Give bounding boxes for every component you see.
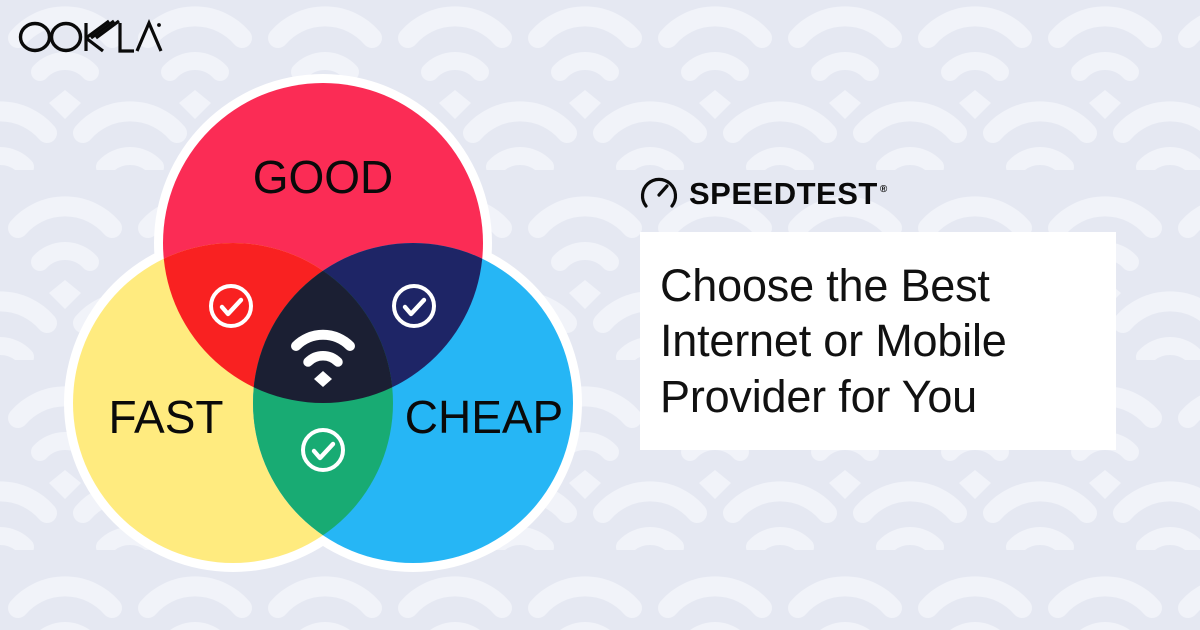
right-content-column: SPEEDTEST® Choose the Best Internet or M… (640, 170, 1120, 450)
good-fast-cheap-venn-diagram: GOOD FAST CHEAP (18, 58, 602, 578)
speedtest-logo-lockup: SPEEDTEST® (640, 170, 1120, 216)
speedometer-gauge-icon (640, 174, 678, 212)
venn-label-fast: FAST (108, 391, 223, 443)
ookla-logo (16, 16, 166, 58)
ookla-registered-mark (157, 23, 161, 27)
speedtest-registered-mark: ® (880, 184, 888, 195)
speedtest-wordmark-text: SPEEDTEST (689, 176, 878, 211)
page-title: Choose the Best Internet or Mobile Provi… (660, 258, 1090, 424)
speedtest-wordmark-group: SPEEDTEST® (689, 178, 888, 209)
venn-label-good: GOOD (253, 151, 394, 203)
promo-graphic-canvas: GOOD FAST CHEAP (0, 0, 1200, 630)
venn-label-cheap: CHEAP (405, 391, 563, 443)
headline-card: Choose the Best Internet or Mobile Provi… (640, 232, 1116, 450)
